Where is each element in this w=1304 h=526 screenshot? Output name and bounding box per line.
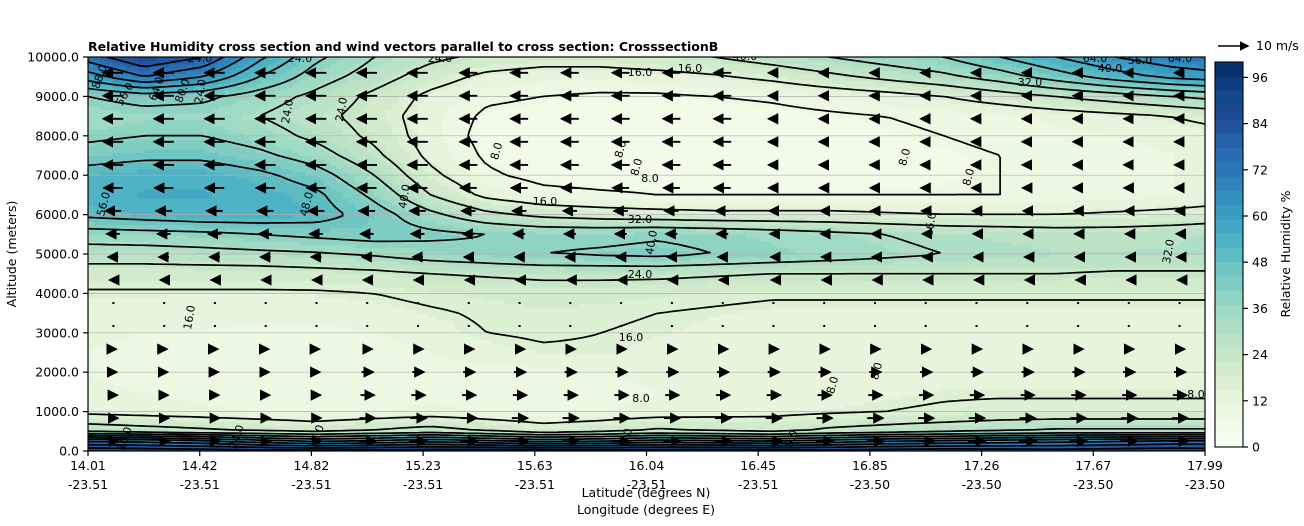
x-tick-latitude: 14.82 bbox=[294, 458, 330, 473]
y-tick-label: 7000.0 bbox=[35, 168, 79, 183]
x-tick-longitude: -23.51 bbox=[515, 477, 555, 492]
x-tick-longitude: -23.50 bbox=[1073, 477, 1113, 492]
x-tick-longitude: -23.51 bbox=[738, 477, 778, 492]
colorbar-tick-label: 60 bbox=[1252, 209, 1268, 224]
y-tick-label: 4000.0 bbox=[35, 286, 79, 301]
x-tick-longitude: -23.51 bbox=[68, 477, 108, 492]
x-tick-longitude: -23.50 bbox=[850, 477, 890, 492]
y-axis-title: Altitude (meters) bbox=[4, 201, 19, 308]
y-tick-label: 0.0 bbox=[59, 444, 79, 459]
colorbar-title: Relative Humidity % bbox=[1278, 190, 1293, 317]
x-tick-latitude: 17.99 bbox=[1187, 458, 1223, 473]
x-tick-latitude: 15.63 bbox=[517, 458, 553, 473]
x-tick-longitude: -23.51 bbox=[403, 477, 443, 492]
y-tick-label: 9000.0 bbox=[35, 89, 79, 104]
x-tick-longitude: -23.50 bbox=[961, 477, 1001, 492]
x-tick-longitude: -23.51 bbox=[291, 477, 331, 492]
y-tick-label: 1000.0 bbox=[35, 404, 79, 419]
cross-section-plot: 16.016.032.040.024.024.024.040.064.056.0… bbox=[0, 0, 1304, 526]
x-tick-latitude: 16.45 bbox=[740, 458, 776, 473]
colorbar-tick-label: 48 bbox=[1252, 255, 1268, 270]
wind-key: 10 m/s bbox=[1218, 38, 1299, 53]
x-tick-latitude: 14.42 bbox=[182, 458, 218, 473]
colorbar: 01224364860728496 bbox=[1215, 62, 1268, 455]
y-tick-label: 8000.0 bbox=[35, 128, 79, 143]
y-tick-label: 5000.0 bbox=[35, 247, 79, 262]
colorbar-tick-label: 84 bbox=[1252, 116, 1268, 131]
colorbar-tick-label: 72 bbox=[1252, 162, 1268, 177]
y-tick-label: 10000.0 bbox=[27, 50, 79, 65]
wind-key-label: 10 m/s bbox=[1256, 38, 1299, 53]
x-tick-latitude: 17.26 bbox=[964, 458, 1000, 473]
x-tick-latitude: 14.01 bbox=[70, 458, 106, 473]
x-tick-latitude: 17.67 bbox=[1075, 458, 1111, 473]
y-tick-label: 6000.0 bbox=[35, 207, 79, 222]
y-axis: 0.01000.02000.03000.04000.05000.06000.07… bbox=[27, 50, 88, 459]
colorbar-tick-label: 24 bbox=[1252, 347, 1268, 362]
x-tick-longitude: -23.51 bbox=[180, 477, 220, 492]
y-tick-label: 3000.0 bbox=[35, 325, 79, 340]
x-tick-latitude: 16.04 bbox=[629, 458, 665, 473]
x-tick-longitude: -23.50 bbox=[1185, 477, 1225, 492]
colorbar-tick-label: 96 bbox=[1252, 70, 1268, 85]
colorbar-tick-label: 36 bbox=[1252, 301, 1268, 316]
colorbar-tick-label: 0 bbox=[1252, 440, 1260, 455]
x-tick-latitude: 15.23 bbox=[405, 458, 441, 473]
colorbar-tick-label: 12 bbox=[1252, 393, 1268, 408]
figure-root: Relative Humidity cross section and wind… bbox=[0, 0, 1304, 526]
y-tick-label: 2000.0 bbox=[35, 365, 79, 380]
x-axis-title-longitude: Longitude (degrees E) bbox=[577, 502, 715, 517]
x-tick-latitude: 16.85 bbox=[852, 458, 888, 473]
x-axis-title-latitude: Latitude (degrees N) bbox=[582, 485, 711, 500]
